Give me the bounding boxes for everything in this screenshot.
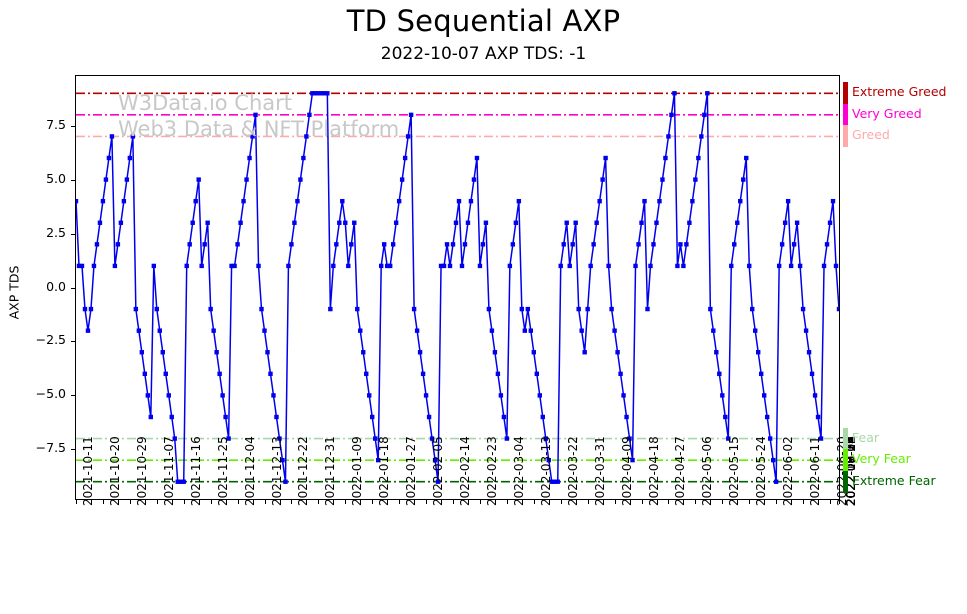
data-point [379, 264, 383, 268]
data-point [532, 350, 536, 354]
series-markers [76, 91, 839, 484]
data-point [122, 199, 126, 203]
data-point [394, 221, 398, 225]
x-tick-label: 2022-03-13 [539, 436, 553, 506]
data-point [355, 307, 359, 311]
data-point [199, 264, 203, 268]
x-tick-mark [776, 500, 777, 504]
data-point [508, 264, 512, 268]
data-point [573, 221, 577, 225]
data-point [232, 264, 236, 268]
data-point [678, 242, 682, 246]
data-point [208, 307, 212, 311]
data-point [113, 264, 117, 268]
data-point [340, 199, 344, 203]
data-point [624, 415, 628, 419]
threshold-label-extreme-greed: Extreme Greed [852, 84, 946, 99]
x-tick-mark [507, 500, 508, 504]
data-point [642, 199, 646, 203]
data-point [238, 221, 242, 225]
data-point [825, 242, 829, 246]
data-point [648, 264, 652, 268]
y-tick-mark [71, 395, 75, 396]
x-tick-mark [372, 500, 373, 504]
data-point [481, 242, 485, 246]
data-point [753, 328, 757, 332]
data-point [185, 264, 189, 268]
data-point [149, 415, 153, 419]
data-point [490, 328, 494, 332]
data-point [361, 350, 365, 354]
data-point [155, 307, 159, 311]
data-point [681, 264, 685, 268]
x-tick-mark [211, 500, 212, 504]
x-tick-label: 2022-03-22 [566, 436, 580, 506]
data-point [651, 242, 655, 246]
data-point [696, 156, 700, 160]
x-tick-label: 2021-10-29 [135, 436, 149, 506]
data-point [609, 307, 613, 311]
data-point [795, 221, 799, 225]
data-point [744, 156, 748, 160]
data-point [759, 372, 763, 376]
data-point [454, 221, 458, 225]
data-point [298, 177, 302, 181]
x-tick-label: 2022-02-14 [458, 436, 472, 506]
data-point [612, 328, 616, 332]
data-point [406, 134, 410, 138]
data-point [538, 393, 542, 397]
data-point [822, 264, 826, 268]
data-point [289, 242, 293, 246]
data-point [250, 134, 254, 138]
x-tick-mark [291, 500, 292, 504]
data-point [472, 177, 476, 181]
data-point [699, 134, 703, 138]
x-tick-mark [615, 500, 616, 504]
data-point [708, 307, 712, 311]
threshold-label-very-greed: Very Greed [852, 106, 922, 121]
threshold-label-very-fear: Very Fear [852, 451, 911, 466]
x-tick-label: 2022-01-18 [377, 436, 391, 506]
data-point [349, 242, 353, 246]
x-tick-mark [695, 500, 696, 504]
x-tick-mark [480, 500, 481, 504]
data-point [217, 372, 221, 376]
x-tick-mark [561, 500, 562, 504]
data-point [523, 328, 527, 332]
x-tick-label: 2022-06-02 [781, 436, 795, 506]
data-point [256, 264, 260, 268]
data-point [95, 242, 99, 246]
data-point [244, 177, 248, 181]
data-point [834, 264, 838, 268]
data-point [466, 221, 470, 225]
data-point [484, 221, 488, 225]
data-point [789, 264, 793, 268]
x-tick-mark [642, 500, 643, 504]
data-point [585, 307, 589, 311]
threshold-label-fear: Fear [852, 430, 879, 445]
data-point [328, 307, 332, 311]
x-tick-label: 2021-10-20 [108, 436, 122, 506]
x-tick-mark [839, 500, 840, 504]
data-point [559, 264, 563, 268]
data-point [220, 393, 224, 397]
x-tick-mark [76, 500, 77, 504]
data-point [663, 156, 667, 160]
x-tick-mark [345, 500, 346, 504]
x-tick-label: 2022-06-11 [808, 436, 822, 506]
data-point [134, 307, 138, 311]
data-point [421, 372, 425, 376]
data-point [271, 393, 275, 397]
data-point [735, 221, 739, 225]
data-point [666, 134, 670, 138]
data-point [427, 415, 431, 419]
data-point [343, 221, 347, 225]
data-point [424, 393, 428, 397]
data-point [636, 242, 640, 246]
data-point [412, 307, 416, 311]
data-point [502, 415, 506, 419]
y-tick-mark [71, 341, 75, 342]
data-point [690, 199, 694, 203]
data-point [594, 221, 598, 225]
y-tick-mark [71, 449, 75, 450]
threshold-label-extreme-fear: Extreme Fear [852, 473, 936, 488]
x-tick-mark [722, 500, 723, 504]
data-point [364, 372, 368, 376]
x-tick-label: 2022-03-04 [512, 436, 526, 506]
y-tick-mark [71, 288, 75, 289]
data-point [774, 480, 778, 484]
page-title: TD Sequential AXP [0, 4, 967, 38]
data-point [259, 307, 263, 311]
data-point [80, 264, 84, 268]
data-point [738, 199, 742, 203]
data-point [403, 156, 407, 160]
data-point [451, 242, 455, 246]
data-point [388, 264, 392, 268]
data-point [621, 393, 625, 397]
data-point [478, 264, 482, 268]
data-point [493, 350, 497, 354]
x-tick-label: 2021-12-04 [243, 436, 257, 506]
data-point [741, 177, 745, 181]
data-point [98, 221, 102, 225]
data-point [304, 134, 308, 138]
data-point [777, 264, 781, 268]
data-point [190, 221, 194, 225]
data-point [415, 328, 419, 332]
data-point [101, 199, 105, 203]
data-point [615, 350, 619, 354]
data-point [92, 264, 96, 268]
data-point [588, 264, 592, 268]
x-tick-label: 2022-05-24 [754, 436, 768, 506]
data-point [337, 221, 341, 225]
data-point [732, 242, 736, 246]
data-point [780, 242, 784, 246]
data-point [511, 242, 515, 246]
chart-figure: TD Sequential AXP 2022-10-07 AXP TDS: -1… [0, 0, 967, 614]
x-tick-mark [103, 500, 104, 504]
data-point [370, 415, 374, 419]
data-point [274, 415, 278, 419]
data-point [104, 177, 108, 181]
data-point [729, 264, 733, 268]
data-point [565, 221, 569, 225]
data-point [475, 156, 479, 160]
data-point [76, 199, 78, 203]
data-point [654, 221, 658, 225]
x-tick-label: 2021-12-13 [270, 436, 284, 506]
data-point [768, 436, 772, 440]
data-point [771, 458, 775, 462]
x-tick-mark [426, 500, 427, 504]
x-tick-label: 2021-11-16 [189, 436, 203, 506]
x-tick-label: 2021-12-31 [323, 436, 337, 506]
data-point [660, 177, 664, 181]
x-tick-label: 2021-10-11 [81, 436, 95, 506]
y-tick-label: 5.0 [20, 171, 66, 186]
data-point [110, 134, 114, 138]
data-point [448, 264, 452, 268]
x-tick-label: 2021-11-25 [216, 436, 230, 506]
data-point [193, 199, 197, 203]
y-tick-label: 7.5 [20, 117, 66, 132]
data-point [756, 350, 760, 354]
data-point [119, 221, 123, 225]
data-point [831, 199, 835, 203]
data-point [813, 393, 817, 397]
data-point [562, 242, 566, 246]
data-point [128, 156, 132, 160]
data-point [618, 372, 622, 376]
data-point [582, 350, 586, 354]
data-point [669, 113, 673, 117]
data-point [131, 134, 135, 138]
data-point [801, 307, 805, 311]
x-tick-mark [184, 500, 185, 504]
x-tick-mark [130, 500, 131, 504]
data-point [83, 307, 87, 311]
data-point [301, 156, 305, 160]
data-point [265, 350, 269, 354]
data-point [571, 242, 575, 246]
data-point [693, 177, 697, 181]
data-point [816, 415, 820, 419]
data-point [295, 199, 299, 203]
x-tick-label: 2022-03-31 [593, 436, 607, 506]
data-point [514, 221, 518, 225]
data-point [499, 393, 503, 397]
data-point [529, 328, 533, 332]
x-tick-mark [668, 500, 669, 504]
data-point [158, 328, 162, 332]
data-point [597, 199, 601, 203]
data-point [568, 264, 572, 268]
data-point [409, 113, 413, 117]
data-point [792, 242, 796, 246]
data-point [750, 307, 754, 311]
data-point [205, 221, 209, 225]
data-point [152, 264, 156, 268]
y-tick-mark [71, 180, 75, 181]
data-point [292, 221, 296, 225]
threshold-swatch-very-greed [843, 104, 848, 126]
data-point [445, 242, 449, 246]
data-point [140, 350, 144, 354]
data-point [268, 372, 272, 376]
data-point [325, 91, 329, 95]
data-point [762, 393, 766, 397]
data-point [469, 199, 473, 203]
x-tick-mark [749, 500, 750, 504]
data-point [463, 242, 467, 246]
data-point [675, 264, 679, 268]
data-point [241, 199, 245, 203]
x-tick-label: 2022-04-09 [620, 436, 634, 506]
data-point [442, 264, 446, 268]
threshold-swatch-greed [843, 125, 848, 147]
data-point [457, 199, 461, 203]
x-tick-label: 2021-12-22 [296, 436, 310, 506]
x-tick-label: 2022-05-06 [700, 436, 714, 506]
data-point [182, 480, 186, 484]
data-point [639, 221, 643, 225]
data-point [460, 264, 464, 268]
data-point [702, 113, 706, 117]
data-point [211, 328, 215, 332]
data-point [196, 177, 200, 181]
series-line-axp-tds [76, 93, 839, 481]
data-point [711, 328, 715, 332]
data-point [717, 372, 721, 376]
data-point [672, 91, 676, 95]
x-tick-label: 2022-02-23 [485, 436, 499, 506]
data-point [837, 307, 839, 311]
data-point [720, 393, 724, 397]
x-tick-mark [157, 500, 158, 504]
data-point [517, 199, 521, 203]
data-point [496, 372, 500, 376]
data-point [687, 221, 691, 225]
data-point [786, 199, 790, 203]
x-tick-label: 2022-05-15 [727, 436, 741, 506]
data-point [576, 307, 580, 311]
data-point [235, 242, 239, 246]
data-point [798, 264, 802, 268]
data-point [747, 264, 751, 268]
data-point [603, 156, 607, 160]
data-point [526, 307, 530, 311]
data-point [633, 264, 637, 268]
threshold-swatch-extreme-fear [843, 471, 848, 493]
x-tick-mark [830, 500, 831, 504]
data-point [397, 199, 401, 203]
data-point [505, 436, 509, 440]
data-point [723, 415, 727, 419]
data-point [391, 242, 395, 246]
data-point [600, 177, 604, 181]
data-point [828, 221, 832, 225]
data-point [591, 242, 595, 246]
threshold-swatch-fear [843, 428, 848, 450]
data-point [418, 350, 422, 354]
data-point [807, 350, 811, 354]
x-tick-mark [399, 500, 400, 504]
data-point [487, 307, 491, 311]
x-tick-label: 2022-04-18 [647, 436, 661, 506]
data-point [146, 393, 150, 397]
data-point [358, 328, 362, 332]
x-tick-mark [588, 500, 589, 504]
x-tick-label: 2022-01-09 [350, 436, 364, 506]
data-point [556, 480, 560, 484]
data-point [137, 328, 141, 332]
data-point [307, 113, 311, 117]
x-tick-mark [803, 500, 804, 504]
x-tick-mark [534, 500, 535, 504]
data-point [804, 328, 808, 332]
data-point [188, 242, 192, 246]
data-point [107, 156, 111, 160]
data-point [143, 372, 147, 376]
data-point [400, 177, 404, 181]
x-tick-label: 2022-01-27 [404, 436, 418, 506]
data-point [89, 307, 93, 311]
y-tick-label: 0.0 [20, 279, 66, 294]
data-point [579, 328, 583, 332]
data-point [334, 242, 338, 246]
chart-subtitle: 2022-10-07 AXP TDS: -1 [0, 44, 967, 64]
data-point [657, 199, 661, 203]
data-point [535, 372, 539, 376]
y-tick-label: −2.5 [20, 332, 66, 347]
data-point [167, 393, 171, 397]
x-tick-mark [265, 500, 266, 504]
x-tick-label: 2022-02-05 [431, 436, 445, 506]
y-tick-mark [71, 126, 75, 127]
data-point [346, 264, 350, 268]
data-point [520, 307, 524, 311]
data-point [331, 264, 335, 268]
data-point [247, 156, 251, 160]
threshold-label-greed: Greed [852, 127, 890, 142]
data-point [367, 393, 371, 397]
data-point [705, 91, 709, 95]
data-point [352, 221, 356, 225]
threshold-swatch-very-fear [843, 449, 848, 471]
data-point [164, 372, 168, 376]
data-point [645, 307, 649, 311]
x-tick-label: 2022-04-27 [673, 436, 687, 506]
data-point [253, 113, 257, 117]
x-tick-mark [318, 500, 319, 504]
data-point [116, 242, 120, 246]
data-point [86, 328, 90, 332]
data-point [684, 242, 688, 246]
data-point [262, 328, 266, 332]
y-tick-label: −7.5 [20, 440, 66, 455]
data-point [161, 350, 165, 354]
y-axis-label: AXP TDS [2, 0, 24, 614]
data-point [606, 264, 610, 268]
y-tick-mark [71, 234, 75, 235]
y-tick-label: −5.0 [20, 386, 66, 401]
